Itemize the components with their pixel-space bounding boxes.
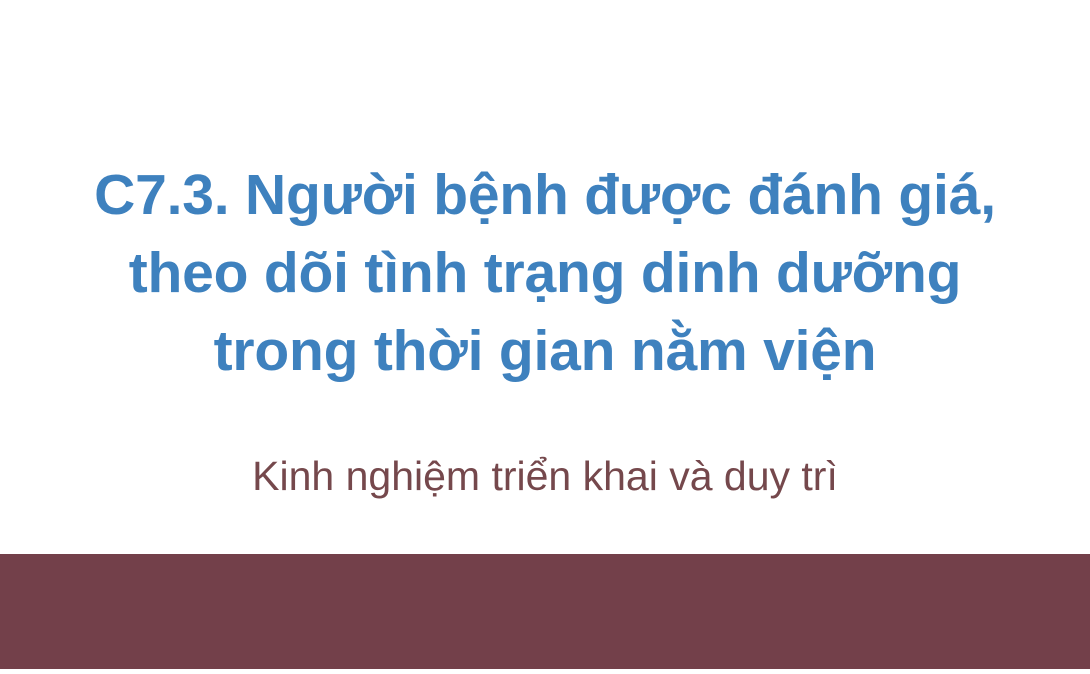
title-line-1: C7.3. Người bệnh được đánh giá, [0, 156, 1090, 234]
bottom-white-strip [0, 669, 1090, 674]
slide-title: C7.3. Người bệnh được đánh giá, theo dõi… [0, 156, 1090, 390]
title-line-2: theo dõi tình trạng dinh dưỡng [0, 234, 1090, 312]
title-line-3: trong thời gian nằm viện [0, 312, 1090, 390]
presentation-slide: C7.3. Người bệnh được đánh giá, theo dõi… [0, 0, 1090, 674]
slide-subtitle: Kinh nghiệm triển khai và duy trì [0, 450, 1090, 502]
footer-band: • Phương án duy trì • Tiếp cận hệ thống … [0, 554, 1090, 669]
